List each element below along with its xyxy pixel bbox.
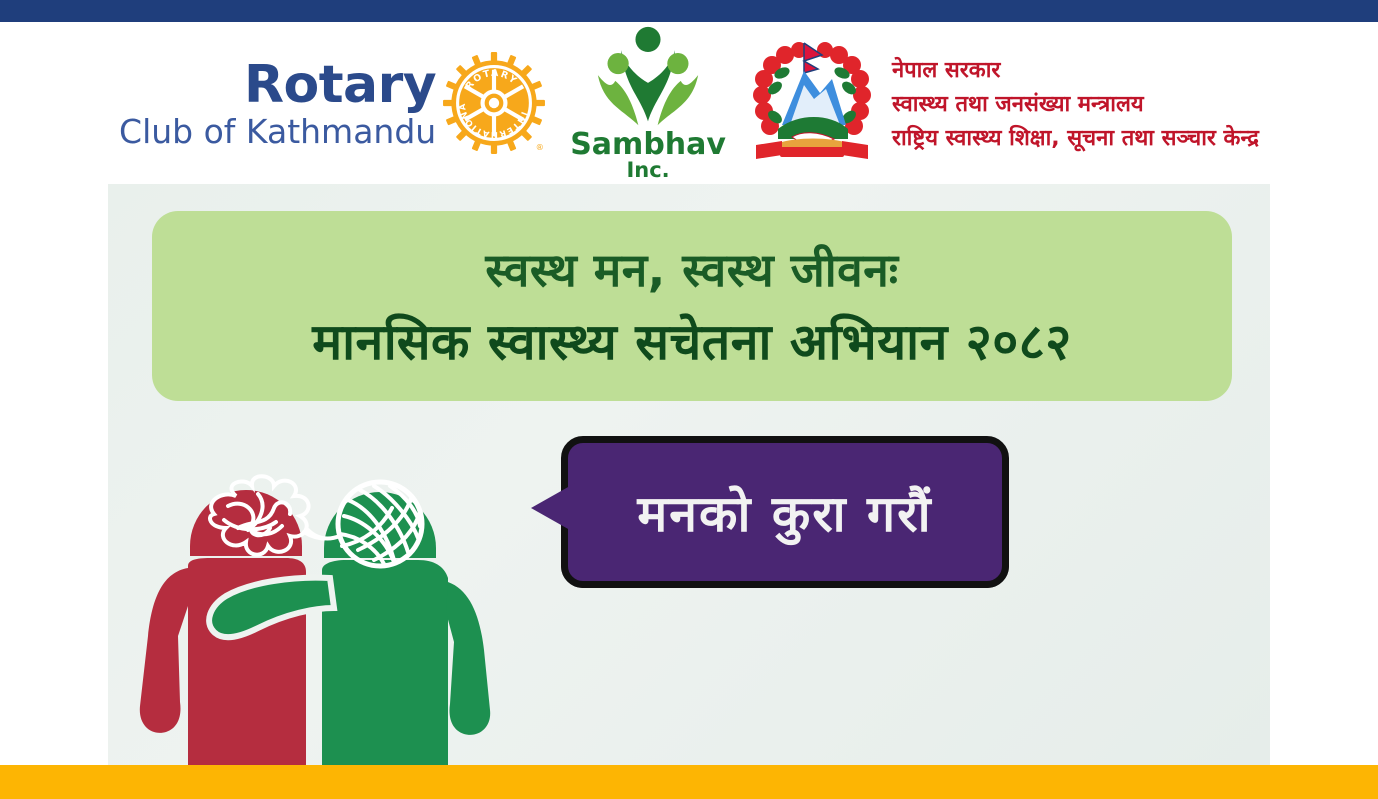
speech-bubble-tail — [531, 482, 577, 534]
nepal-line-3: राष्ट्रिय स्वास्थ्य शिक्षा, सूचना तथा सञ… — [892, 122, 1259, 152]
logo-header: Rotary Club of Kathmandu — [0, 22, 1378, 184]
poster-panel: स्वस्थ मन, स्वस्थ जीवनः मानसिक स्वास्थ्य… — [108, 184, 1270, 765]
campaign-title-line-1: स्वस्थ मन, स्वस्थ जीवनः — [485, 238, 898, 300]
speech-bubble-text: मनको कुरा गरौं — [637, 478, 932, 546]
bottom-accent-bar — [0, 765, 1378, 799]
nepal-emblem-icon — [742, 33, 882, 173]
sambhav-people-icon — [589, 25, 707, 133]
rotary-club-logo: Rotary Club of Kathmandu — [119, 51, 546, 155]
rotary-wheel-icon: ROTARY INTERNATIONAL ® — [442, 51, 546, 155]
speech-bubble: मनको कुरा गरौं — [561, 436, 1009, 588]
campaign-title-box: स्वस्थ मन, स्वस्थ जीवनः मानसिक स्वास्थ्य… — [152, 211, 1232, 401]
rotary-title: Rotary — [244, 59, 436, 111]
campaign-title-line-2: मानसिक स्वास्थ्य सचेतना अभियान २०८२ — [312, 306, 1072, 374]
rotary-subtitle: Club of Kathmandu — [119, 115, 436, 148]
two-figures-illustration — [118, 436, 538, 765]
sambhav-suffix: Inc. — [626, 160, 669, 181]
rotary-wordmark: Rotary Club of Kathmandu — [119, 59, 436, 148]
poster-stage: Rotary Club of Kathmandu — [0, 0, 1378, 799]
sambhav-inc-logo: Sambhav Inc. — [570, 25, 726, 181]
top-accent-bar — [0, 0, 1378, 22]
sambhav-name: Sambhav — [570, 131, 726, 160]
svg-text:®: ® — [536, 142, 544, 152]
speech-bubble-group: मनको कुरा गरौं — [533, 436, 983, 596]
nepal-line-2: स्वास्थ्य तथा जनसंख्या मन्त्रालय — [892, 88, 1259, 118]
nepal-government-logo: नेपाल सरकार स्वास्थ्य तथा जनसंख्या मन्त्… — [742, 33, 1259, 173]
nepal-line-1: नेपाल सरकार — [892, 54, 1259, 84]
nepal-ministry-text: नेपाल सरकार स्वास्थ्य तथा जनसंख्या मन्त्… — [892, 54, 1259, 152]
